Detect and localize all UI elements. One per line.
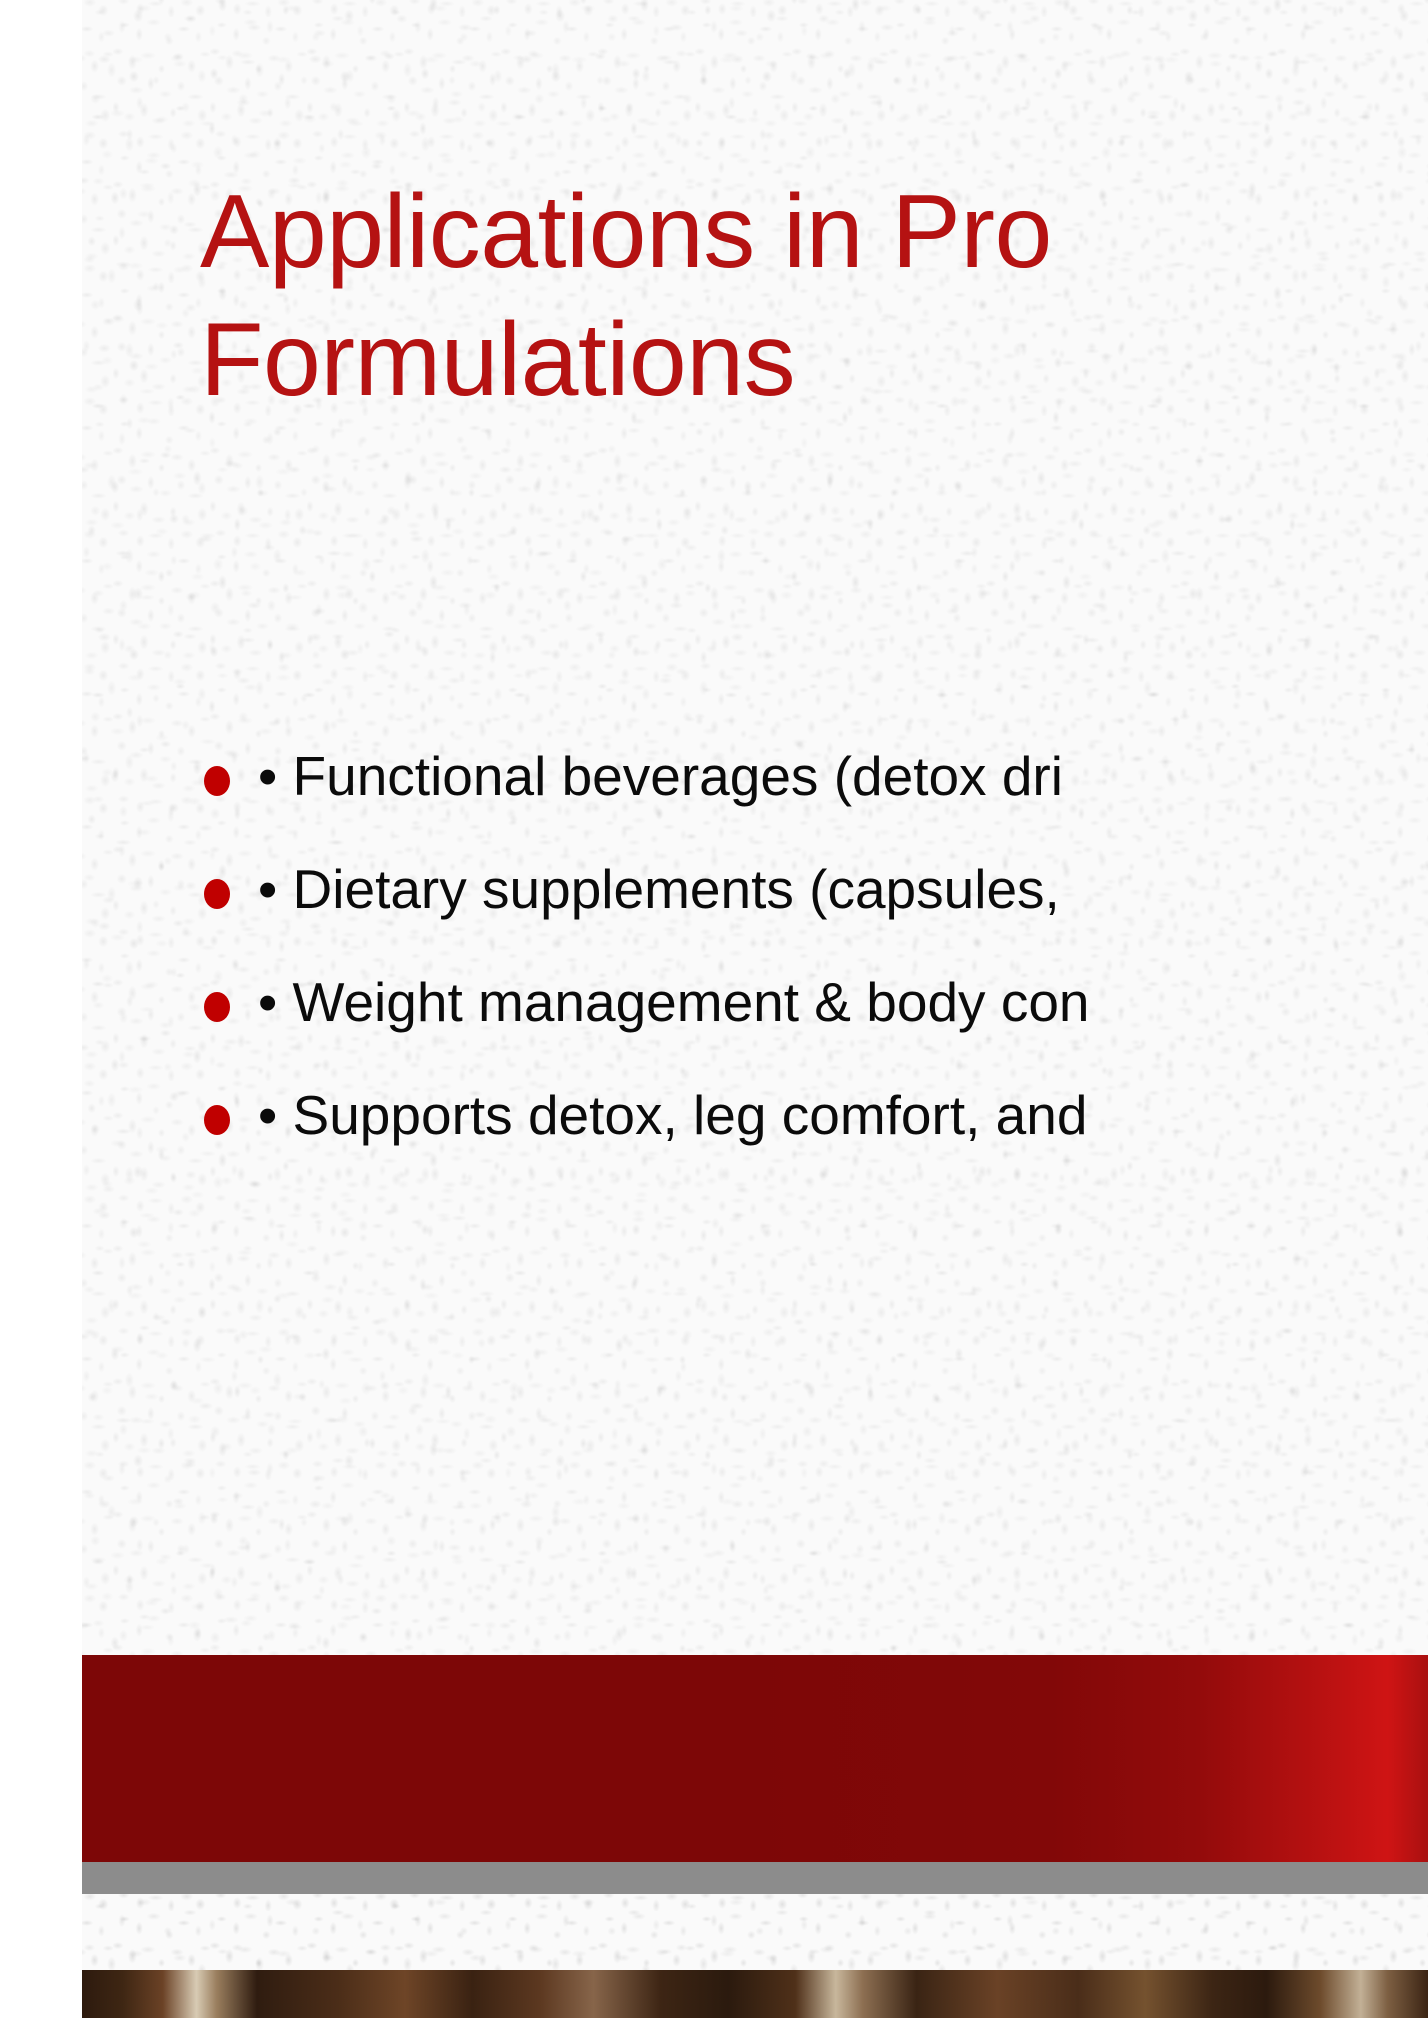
bullet-list-item: • Dietary supplements (capsules,	[200, 853, 1428, 966]
bullet-dot-icon	[204, 879, 230, 909]
footer-gray-divider	[82, 1862, 1428, 1894]
slide-title: Applications in Pro Formulations	[200, 168, 1428, 424]
bullet-item-text: • Weight management & body con	[258, 966, 1090, 1038]
footer-red-band	[82, 1655, 1428, 1862]
bullet-item-text: • Functional beverages (detox dri	[258, 740, 1063, 812]
slide-title-line-2: Formulations	[200, 296, 1428, 424]
bullet-dot-icon	[204, 766, 230, 796]
bullet-list-item: • Functional beverages (detox dri	[200, 740, 1428, 853]
bullet-item-text: • Supports detox, leg comfort, and	[258, 1079, 1087, 1151]
bullet-list: • Functional beverages (detox dri • Diet…	[200, 740, 1428, 1192]
bullet-list-item: • Weight management & body con	[200, 966, 1428, 1079]
bullet-list-item: • Supports detox, leg comfort, and	[200, 1079, 1428, 1192]
bullet-item-text: • Dietary supplements (capsules,	[258, 853, 1060, 925]
slide-canvas: Applications in Pro Formulations • Funct…	[0, 0, 1428, 2018]
slide-title-line-1: Applications in Pro	[200, 168, 1428, 296]
bullet-dot-icon	[204, 1105, 230, 1135]
bullet-dot-icon	[204, 992, 230, 1022]
paper-texture-layer-2	[82, 1894, 1428, 1970]
footer-wood-image	[82, 1970, 1428, 2018]
footer-texture-strip	[82, 1894, 1428, 1970]
